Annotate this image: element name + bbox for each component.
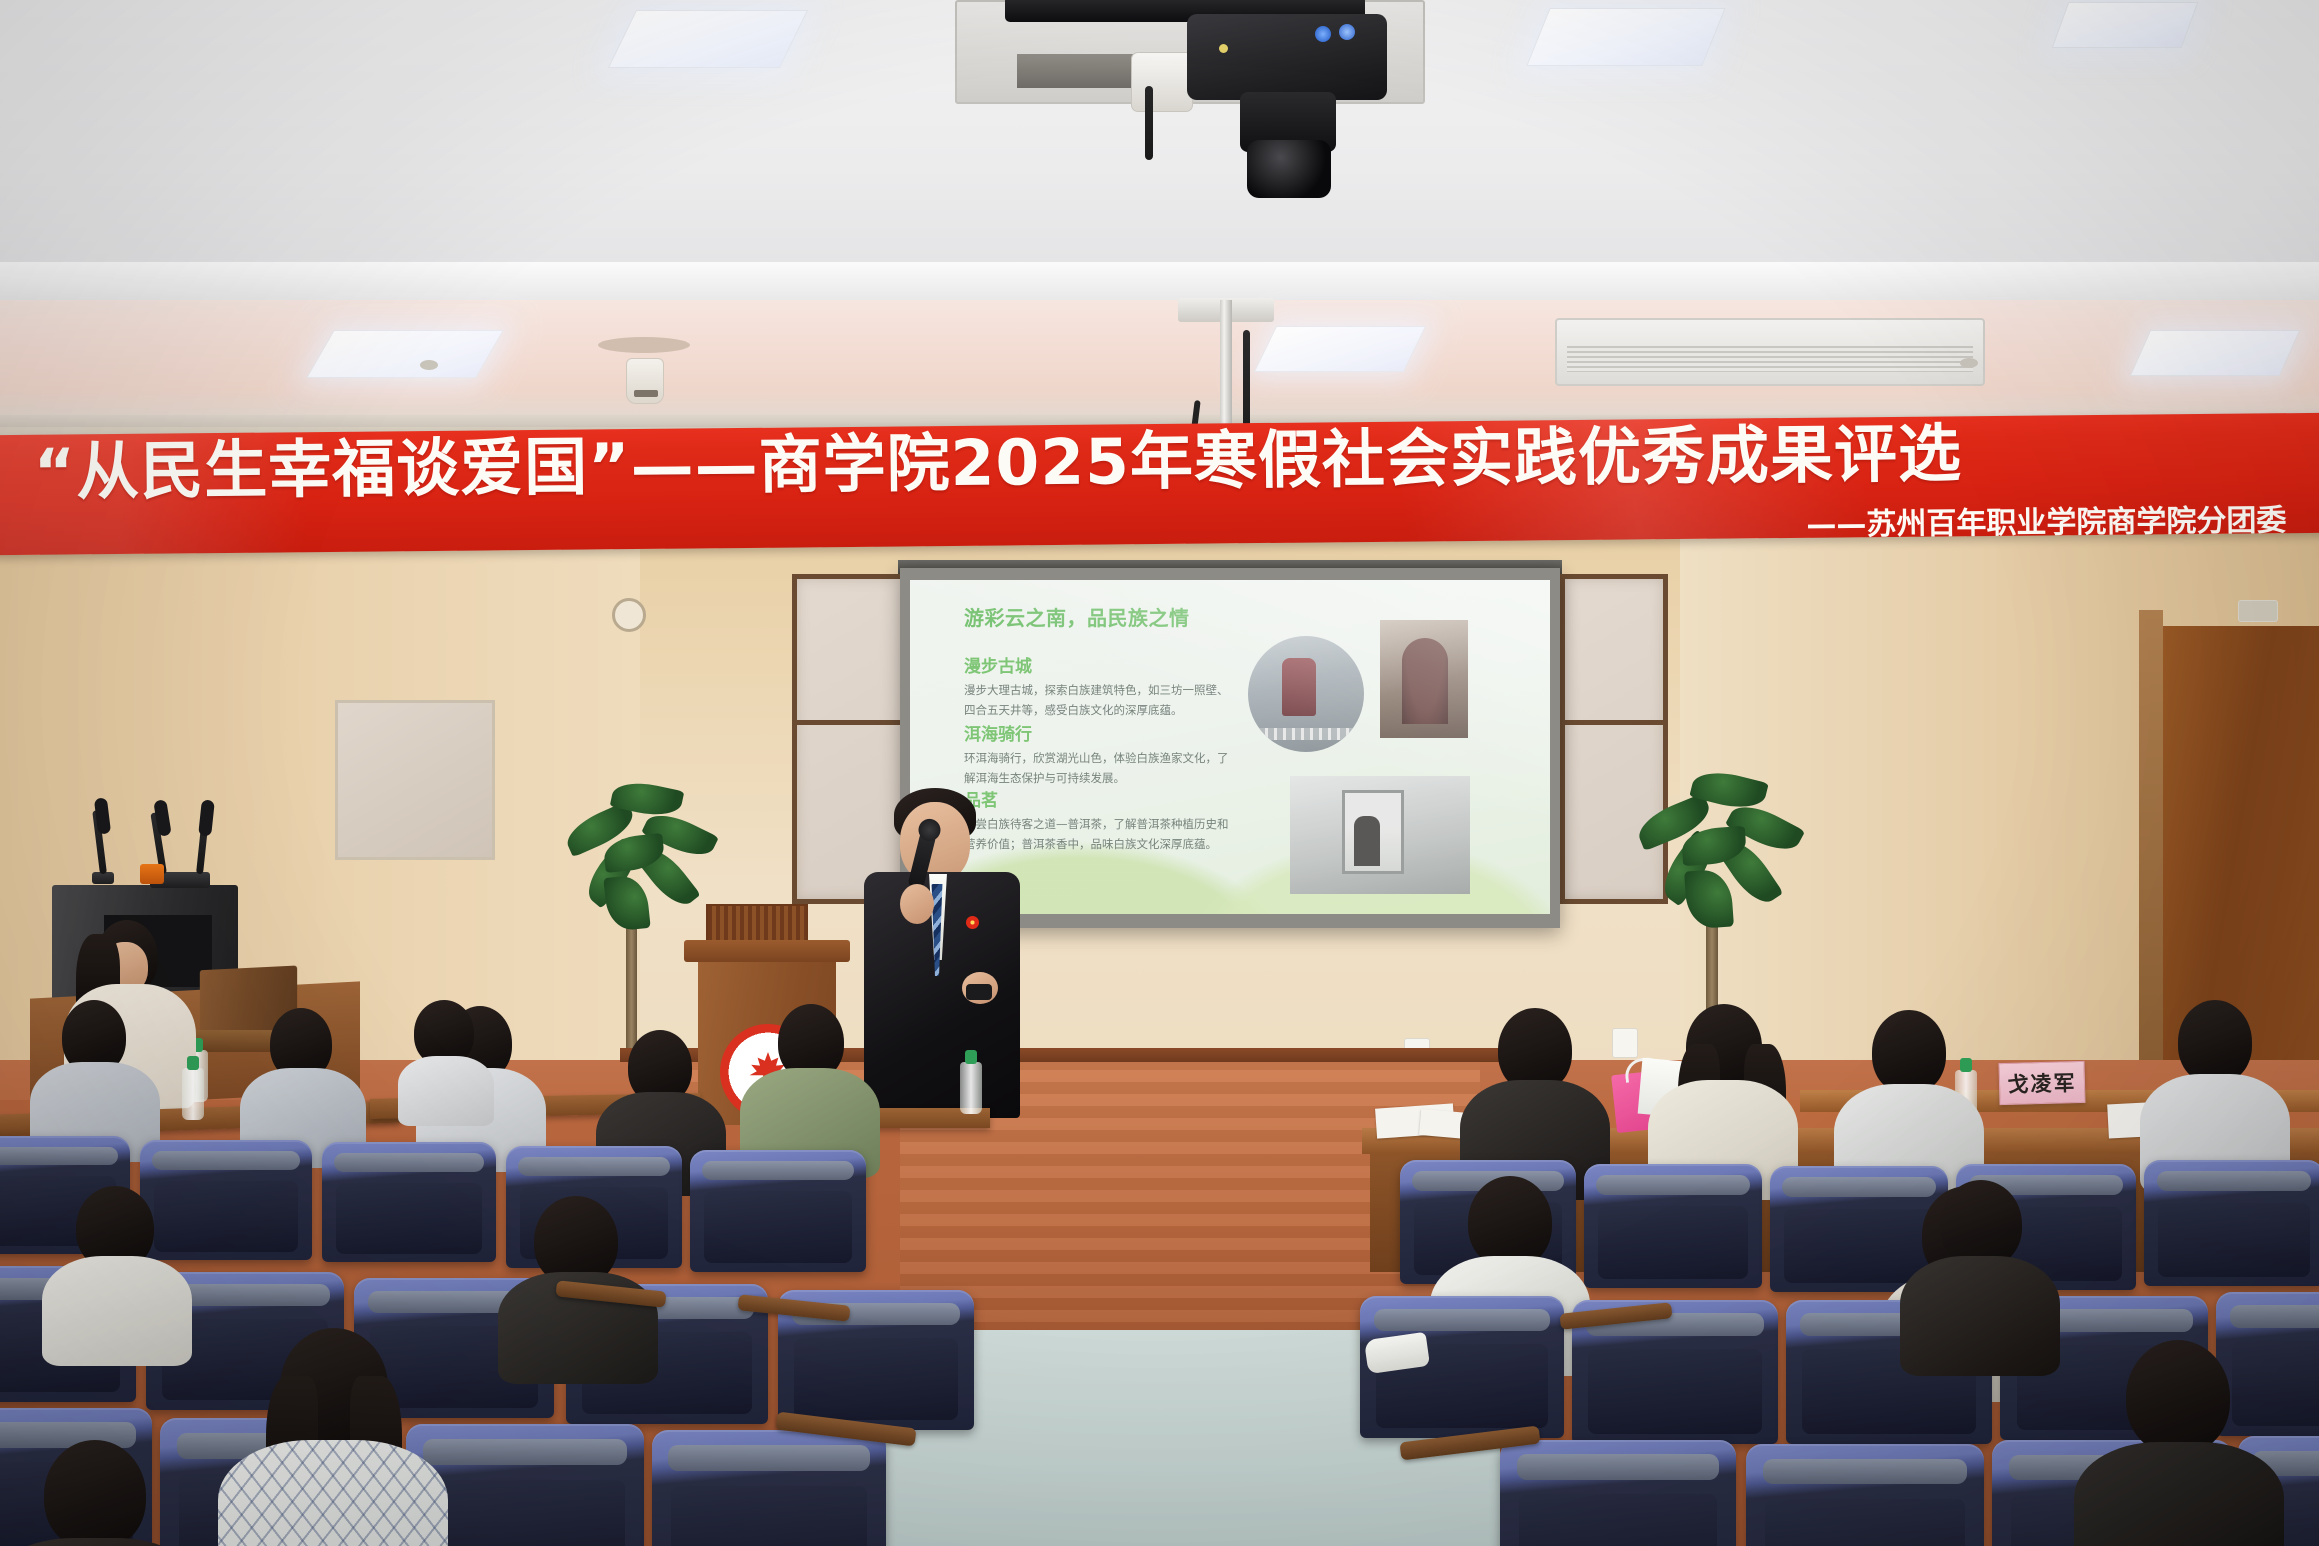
ptz-camera-body xyxy=(1187,14,1387,100)
courtyard-photo xyxy=(1290,776,1470,894)
slide-title: 游彩云之南，品民族之情 xyxy=(964,602,1190,631)
podium-mic-grille xyxy=(706,904,808,944)
audience-member xyxy=(2140,1000,2290,1172)
camera-led-blue xyxy=(1339,24,1355,40)
slide-section-heading: 漫步古城 xyxy=(964,652,1032,677)
auditorium-seat[interactable] xyxy=(690,1150,866,1272)
presenter-hand xyxy=(900,884,934,924)
ac-vent xyxy=(1555,318,1985,386)
soffit-panel-light xyxy=(306,330,504,378)
audience-member xyxy=(218,1328,448,1546)
auditorium-seat[interactable] xyxy=(2144,1160,2319,1286)
ceiling-panel-light xyxy=(2052,2,2199,48)
camera-lens-icon xyxy=(1247,140,1331,198)
audience-member xyxy=(0,1440,200,1546)
ceiling-panel-light xyxy=(1526,8,1725,66)
presenter xyxy=(862,788,1022,1118)
audience-member xyxy=(42,1186,192,1336)
orange-adapter-icon xyxy=(140,864,164,884)
wall-outlet-icon xyxy=(1612,1028,1638,1058)
audience-member xyxy=(1460,1008,1610,1178)
slide-section-body: 漫步大理古城，探索白族建筑特色，如三坊一照壁、四合五天井等，感受白族文化的深厚底… xyxy=(964,680,1232,720)
rig-white-bracket xyxy=(1131,52,1193,112)
camera-led-amber xyxy=(1219,44,1228,53)
auditorium-seat[interactable] xyxy=(322,1142,496,1262)
rig-cable xyxy=(1145,86,1153,160)
clicker-remote-icon xyxy=(966,984,992,1000)
judge-name-text: 戈凌军 xyxy=(1999,1062,2084,1106)
ceiling-panel-light xyxy=(608,10,808,68)
auditorium-seat[interactable] xyxy=(1500,1440,1736,1546)
auditorium-seat[interactable] xyxy=(652,1430,886,1546)
audience-member xyxy=(398,1000,494,1110)
water-bottle xyxy=(960,1062,982,1114)
audience-member xyxy=(2074,1340,2284,1546)
banner-main-text: “从民生幸福谈爱国”——商学院2025年寒假社会实践优秀成果评选 xyxy=(34,419,2275,503)
wall-clock-icon xyxy=(612,598,646,632)
audience-member xyxy=(1834,1010,1984,1182)
wall-sensor-icon xyxy=(2238,600,2278,622)
wall-access-panel xyxy=(335,700,495,860)
auditorium-seat[interactable] xyxy=(1584,1164,1762,1288)
audience-member xyxy=(498,1196,658,1356)
auditorium-photo: 游彩云之南，品民族之情 漫步古城 漫步大理古城，探索白族建筑特色，如三坊一照壁、… xyxy=(0,0,2319,1546)
downlight-icon xyxy=(1960,358,1978,368)
lapel-pin-icon xyxy=(966,916,979,929)
smoke-detector-icon xyxy=(598,337,690,353)
ceiling-speaker-icon xyxy=(626,358,664,404)
water-bottle xyxy=(182,1068,204,1120)
wall-panel xyxy=(1560,574,1668,904)
audience-member xyxy=(1900,1180,2060,1340)
auditorium-seat[interactable] xyxy=(1746,1444,1984,1546)
audience-member xyxy=(240,1008,366,1158)
banner-subtitle: ——苏州百年职业学院商学院分团委 xyxy=(1806,495,2286,544)
soffit-panel-light xyxy=(1254,326,1426,372)
downlight-icon xyxy=(420,360,438,370)
ptz-camera-rig xyxy=(955,0,1425,150)
podium-top xyxy=(684,940,850,962)
audience-member xyxy=(30,1000,160,1150)
judge-name-card: 戈凌军 xyxy=(1998,1061,2085,1105)
archway-gate-photo xyxy=(1380,620,1468,738)
soffit-panel-light xyxy=(2130,330,2300,376)
slide-section-body: 环洱海骑行，欣赏湖光山色，体验白族渔家文化，了解洱海生态保护与可持续发展。 xyxy=(964,748,1232,788)
cyclist-circle-photo xyxy=(1248,636,1364,752)
camera-led-blue xyxy=(1315,26,1331,42)
event-banner: “从民生幸福谈爱国”——商学院2025年寒假社会实践优秀成果评选 ——苏州百年职… xyxy=(0,413,2319,555)
audience-member xyxy=(740,1004,880,1164)
audience-member xyxy=(1648,1004,1798,1176)
slide-section-heading: 洱海骑行 xyxy=(964,720,1032,745)
